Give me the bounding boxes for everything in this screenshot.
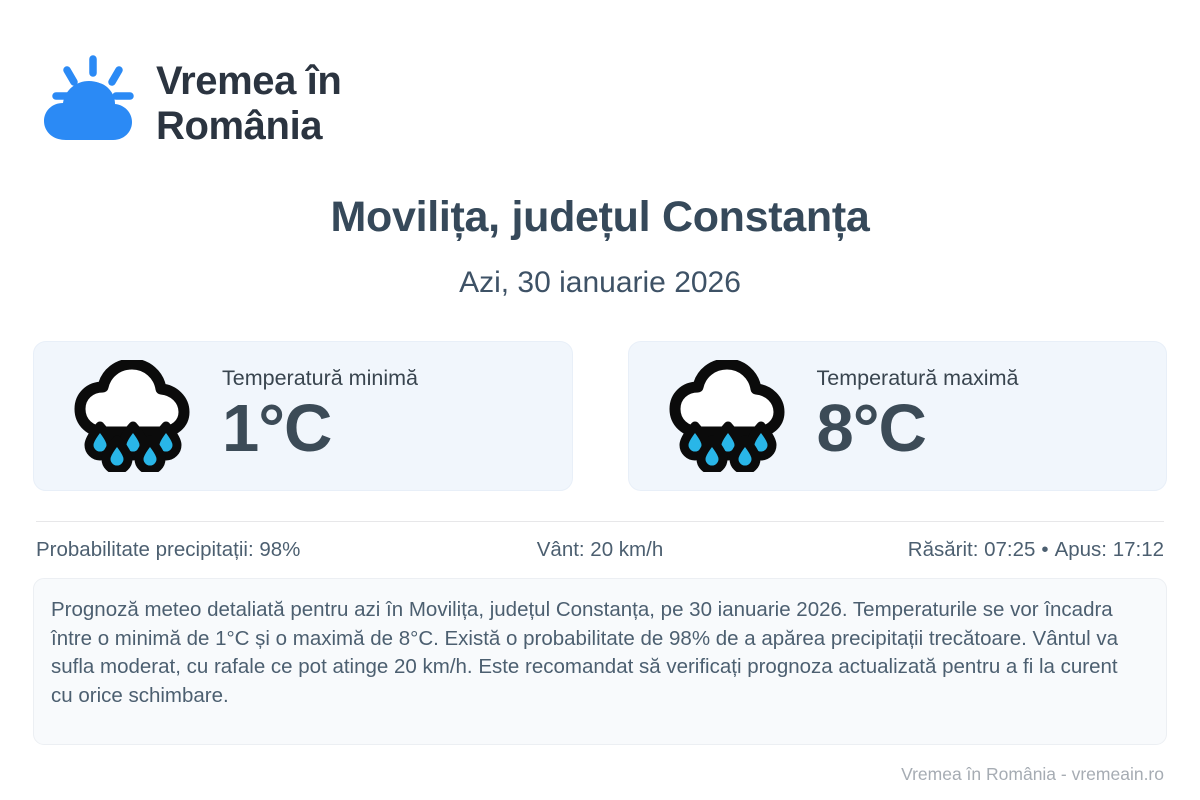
footer-credit: Vremea în România - vremeain.ro bbox=[901, 764, 1164, 785]
forecast-description-box: Prognoză meteo detaliată pentru azi în M… bbox=[33, 578, 1167, 745]
min-temperature-card: Temperatură minimă 1°C bbox=[33, 341, 573, 491]
metrics-divider bbox=[36, 521, 1164, 522]
sun-behind-cloud-icon bbox=[36, 52, 140, 156]
rain-cloud-icon bbox=[72, 360, 194, 472]
date-subtitle: Azi, 30 ianuarie 2026 bbox=[0, 266, 1200, 300]
min-temperature-value: 1°C bbox=[222, 393, 418, 465]
precipitation-metric: Probabilitate precipitații: 98% bbox=[36, 538, 412, 562]
brand-name: Vremea în România bbox=[156, 59, 341, 149]
sun-times-metric: Răsărit: 07:25•Apus: 17:12 bbox=[788, 538, 1164, 562]
rain-cloud-icon bbox=[667, 360, 789, 472]
site-brand[interactable]: Vremea în România bbox=[36, 52, 341, 156]
max-temperature-label: Temperatură maximă bbox=[817, 367, 1019, 391]
wind-metric: Vânt: 20 km/h bbox=[412, 538, 788, 562]
metrics-row: Probabilitate precipitații: 98% Vânt: 20… bbox=[36, 538, 1164, 562]
temperature-cards: Temperatură minimă 1°C Temper bbox=[33, 341, 1167, 491]
max-temperature-body: Temperatură maximă 8°C bbox=[817, 367, 1019, 465]
min-temperature-body: Temperatură minimă 1°C bbox=[222, 367, 418, 465]
min-temperature-label: Temperatură minimă bbox=[222, 367, 418, 391]
forecast-description-text: Prognoză meteo detaliată pentru azi în M… bbox=[51, 596, 1144, 710]
bullet-separator: • bbox=[1035, 538, 1054, 561]
weather-page: Vremea în România Movilița, județul Cons… bbox=[0, 0, 1200, 800]
sunrise-time: Răsărit: 07:25 bbox=[908, 538, 1036, 561]
max-temperature-card: Temperatură maximă 8°C bbox=[628, 341, 1168, 491]
max-temperature-value: 8°C bbox=[817, 393, 1019, 465]
page-title: Movilița, județul Constanța bbox=[0, 193, 1200, 242]
sunset-time: Apus: 17:12 bbox=[1055, 538, 1164, 561]
